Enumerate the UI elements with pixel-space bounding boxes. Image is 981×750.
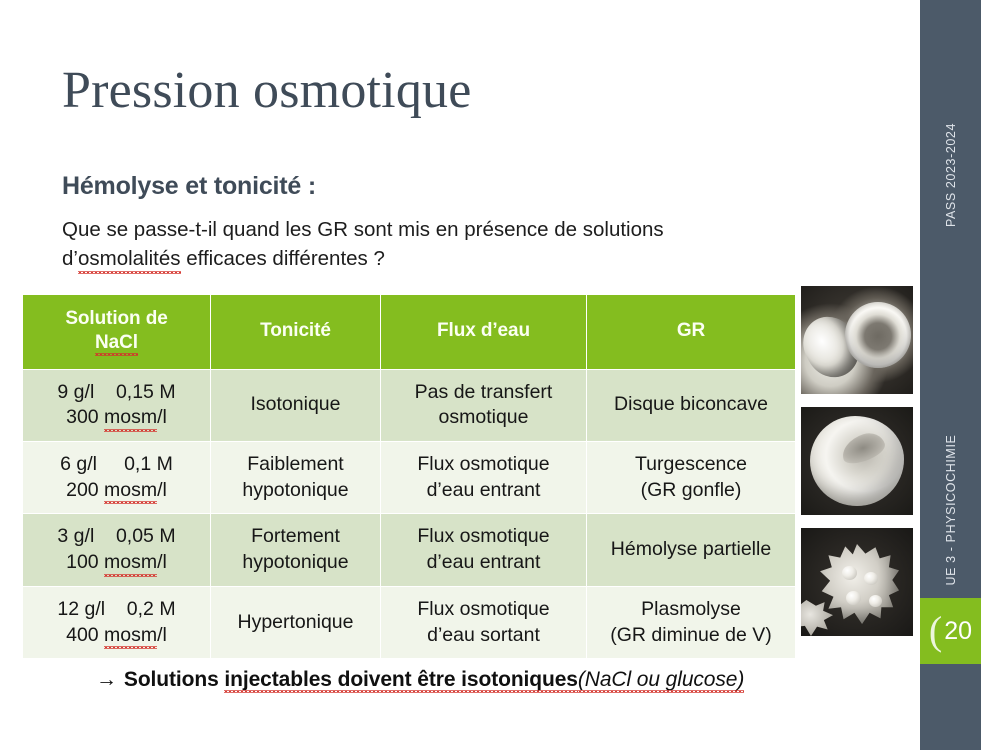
column-header-gr: GR [587, 295, 796, 370]
cell-tonicity: Hypertonique [211, 586, 381, 658]
page-number: 20 [944, 619, 972, 644]
osmolarity-unit-suffix: /l [157, 624, 167, 646]
micrograph-column [801, 286, 913, 649]
cell-solution-line2: 200 mosm/l [29, 478, 204, 504]
tonicity-table-wrapper: Solution de NaCl Tonicité Flux d’eau GR … [22, 294, 795, 659]
conclusion-line: →Solutions injectables doivent être isot… [96, 668, 744, 692]
spellcheck-word-mosm: mosm [104, 550, 157, 576]
osmolarity-unit-suffix: /l [157, 551, 167, 573]
spellcheck-word-osmolalites: osmolalités [78, 244, 181, 273]
column-header-flux: Flux d’eau [381, 295, 587, 370]
cell-flux: Flux osmotique d’eau sortant [381, 586, 587, 658]
section-subtitle: Hémolyse et tonicité : [62, 172, 316, 201]
cell-solution-line2: 300 mosm/l [29, 405, 204, 431]
osmolarity-value: 300 [66, 406, 104, 428]
table-row: 3 g/l 0,05 M 100 mosm/l Fortement hypoto… [23, 514, 796, 586]
osmolarity-unit-suffix: /l [157, 479, 167, 501]
slide-side-rail: PASS 2023-2024 UE 3 - PHYSICOCHIMIE ( 20 [920, 0, 981, 750]
arrow-icon: → [96, 668, 117, 691]
rbc-micrograph-swollen [801, 407, 913, 515]
page-number-badge: ( 20 [920, 598, 981, 664]
rail-academic-year: PASS 2023-2024 [944, 123, 958, 227]
column-header-solution: Solution de NaCl [23, 295, 211, 370]
osmolarity-value: 200 [66, 479, 104, 501]
cell-gr: Plasmolyse (GR diminue de V) [587, 586, 796, 658]
cell-solution-line1: 3 g/l 0,05 M [29, 524, 204, 550]
cell-solution-line2: 400 mosm/l [29, 623, 204, 649]
rbc-micrograph-crenated [801, 528, 913, 636]
conclusion-parenthetical: (NaCl ou glucose) [578, 668, 744, 692]
cell-tonicity: Faiblement hypotonique [211, 441, 381, 513]
spellcheck-phrase-isotoniques: injectables doivent être isotoniques [224, 668, 577, 692]
conclusion-bold-prefix: Solutions [124, 668, 225, 691]
spellcheck-word-mosm: mosm [104, 478, 157, 504]
table-row: 12 g/l 0,2 M 400 mosm/l Hypertonique Flu… [23, 586, 796, 658]
spellcheck-word-mosm: mosm [104, 623, 157, 649]
question-line-1: Que se passe-t-il quand les GR sont mis … [62, 218, 664, 241]
cell-tonicity: Isotonique [211, 369, 381, 441]
slide-canvas: Pression osmotique Hémolyse et tonicité … [0, 0, 920, 750]
cell-solution-line1: 6 g/l 0,1 M [29, 452, 204, 478]
spellcheck-word-mosm: mosm [104, 405, 157, 431]
cell-solution: 6 g/l 0,1 M 200 mosm/l [23, 441, 211, 513]
cell-solution: 3 g/l 0,05 M 100 mosm/l [23, 514, 211, 586]
rbc-micrograph-biconcave [801, 286, 913, 394]
column-header-solution-line1: Solution de [65, 308, 167, 329]
echinocyte-secondary-cell [801, 600, 833, 636]
table-header-row: Solution de NaCl Tonicité Flux d’eau GR [23, 295, 796, 370]
cell-flux: Flux osmotique d’eau entrant [381, 441, 587, 513]
cell-gr: Disque biconcave [587, 369, 796, 441]
column-header-solution-line2: NaCl [95, 331, 138, 355]
cell-gr: Hémolyse partielle [587, 514, 796, 586]
bracket-icon: ( [929, 611, 942, 651]
echinocyte-knob [864, 572, 878, 585]
echinocyte-knob [869, 595, 882, 607]
echinocyte-knob [842, 566, 857, 580]
tonicity-table: Solution de NaCl Tonicité Flux d’eau GR … [22, 294, 796, 659]
table-row: 9 g/l 0,15 M 300 mosm/l Isotonique Pas d… [23, 369, 796, 441]
cell-solution: 9 g/l 0,15 M 300 mosm/l [23, 369, 211, 441]
osmolarity-value: 400 [66, 624, 104, 646]
cell-solution-line1: 12 g/l 0,2 M [29, 597, 204, 623]
table-row: 6 g/l 0,1 M 200 mosm/l Faiblement hypoto… [23, 441, 796, 513]
question-line-2-prefix: d’ [62, 247, 78, 270]
echinocyte-body [815, 544, 899, 624]
cell-flux: Flux osmotique d’eau entrant [381, 514, 587, 586]
cell-solution: 12 g/l 0,2 M 400 mosm/l [23, 586, 211, 658]
page-title: Pression osmotique [62, 62, 472, 119]
cell-tonicity: Fortement hypotonique [211, 514, 381, 586]
osmolarity-unit-suffix: /l [157, 406, 167, 428]
echinocyte-knob [846, 591, 861, 605]
osmolarity-value: 100 [66, 551, 104, 573]
rail-course-label: UE 3 - PHYSICOCHIMIE [944, 435, 958, 586]
cell-solution-line1: 9 g/l 0,15 M [29, 380, 204, 406]
column-header-tonicity: Tonicité [211, 295, 381, 370]
cell-gr: Turgescence (GR gonfle) [587, 441, 796, 513]
cell-flux: Pas de transfert osmotique [381, 369, 587, 441]
question-text: Que se passe-t-il quand les GR sont mis … [62, 215, 822, 273]
question-line-2-suffix: efficaces différentes ? [181, 247, 385, 270]
cell-solution-line2: 100 mosm/l [29, 550, 204, 576]
